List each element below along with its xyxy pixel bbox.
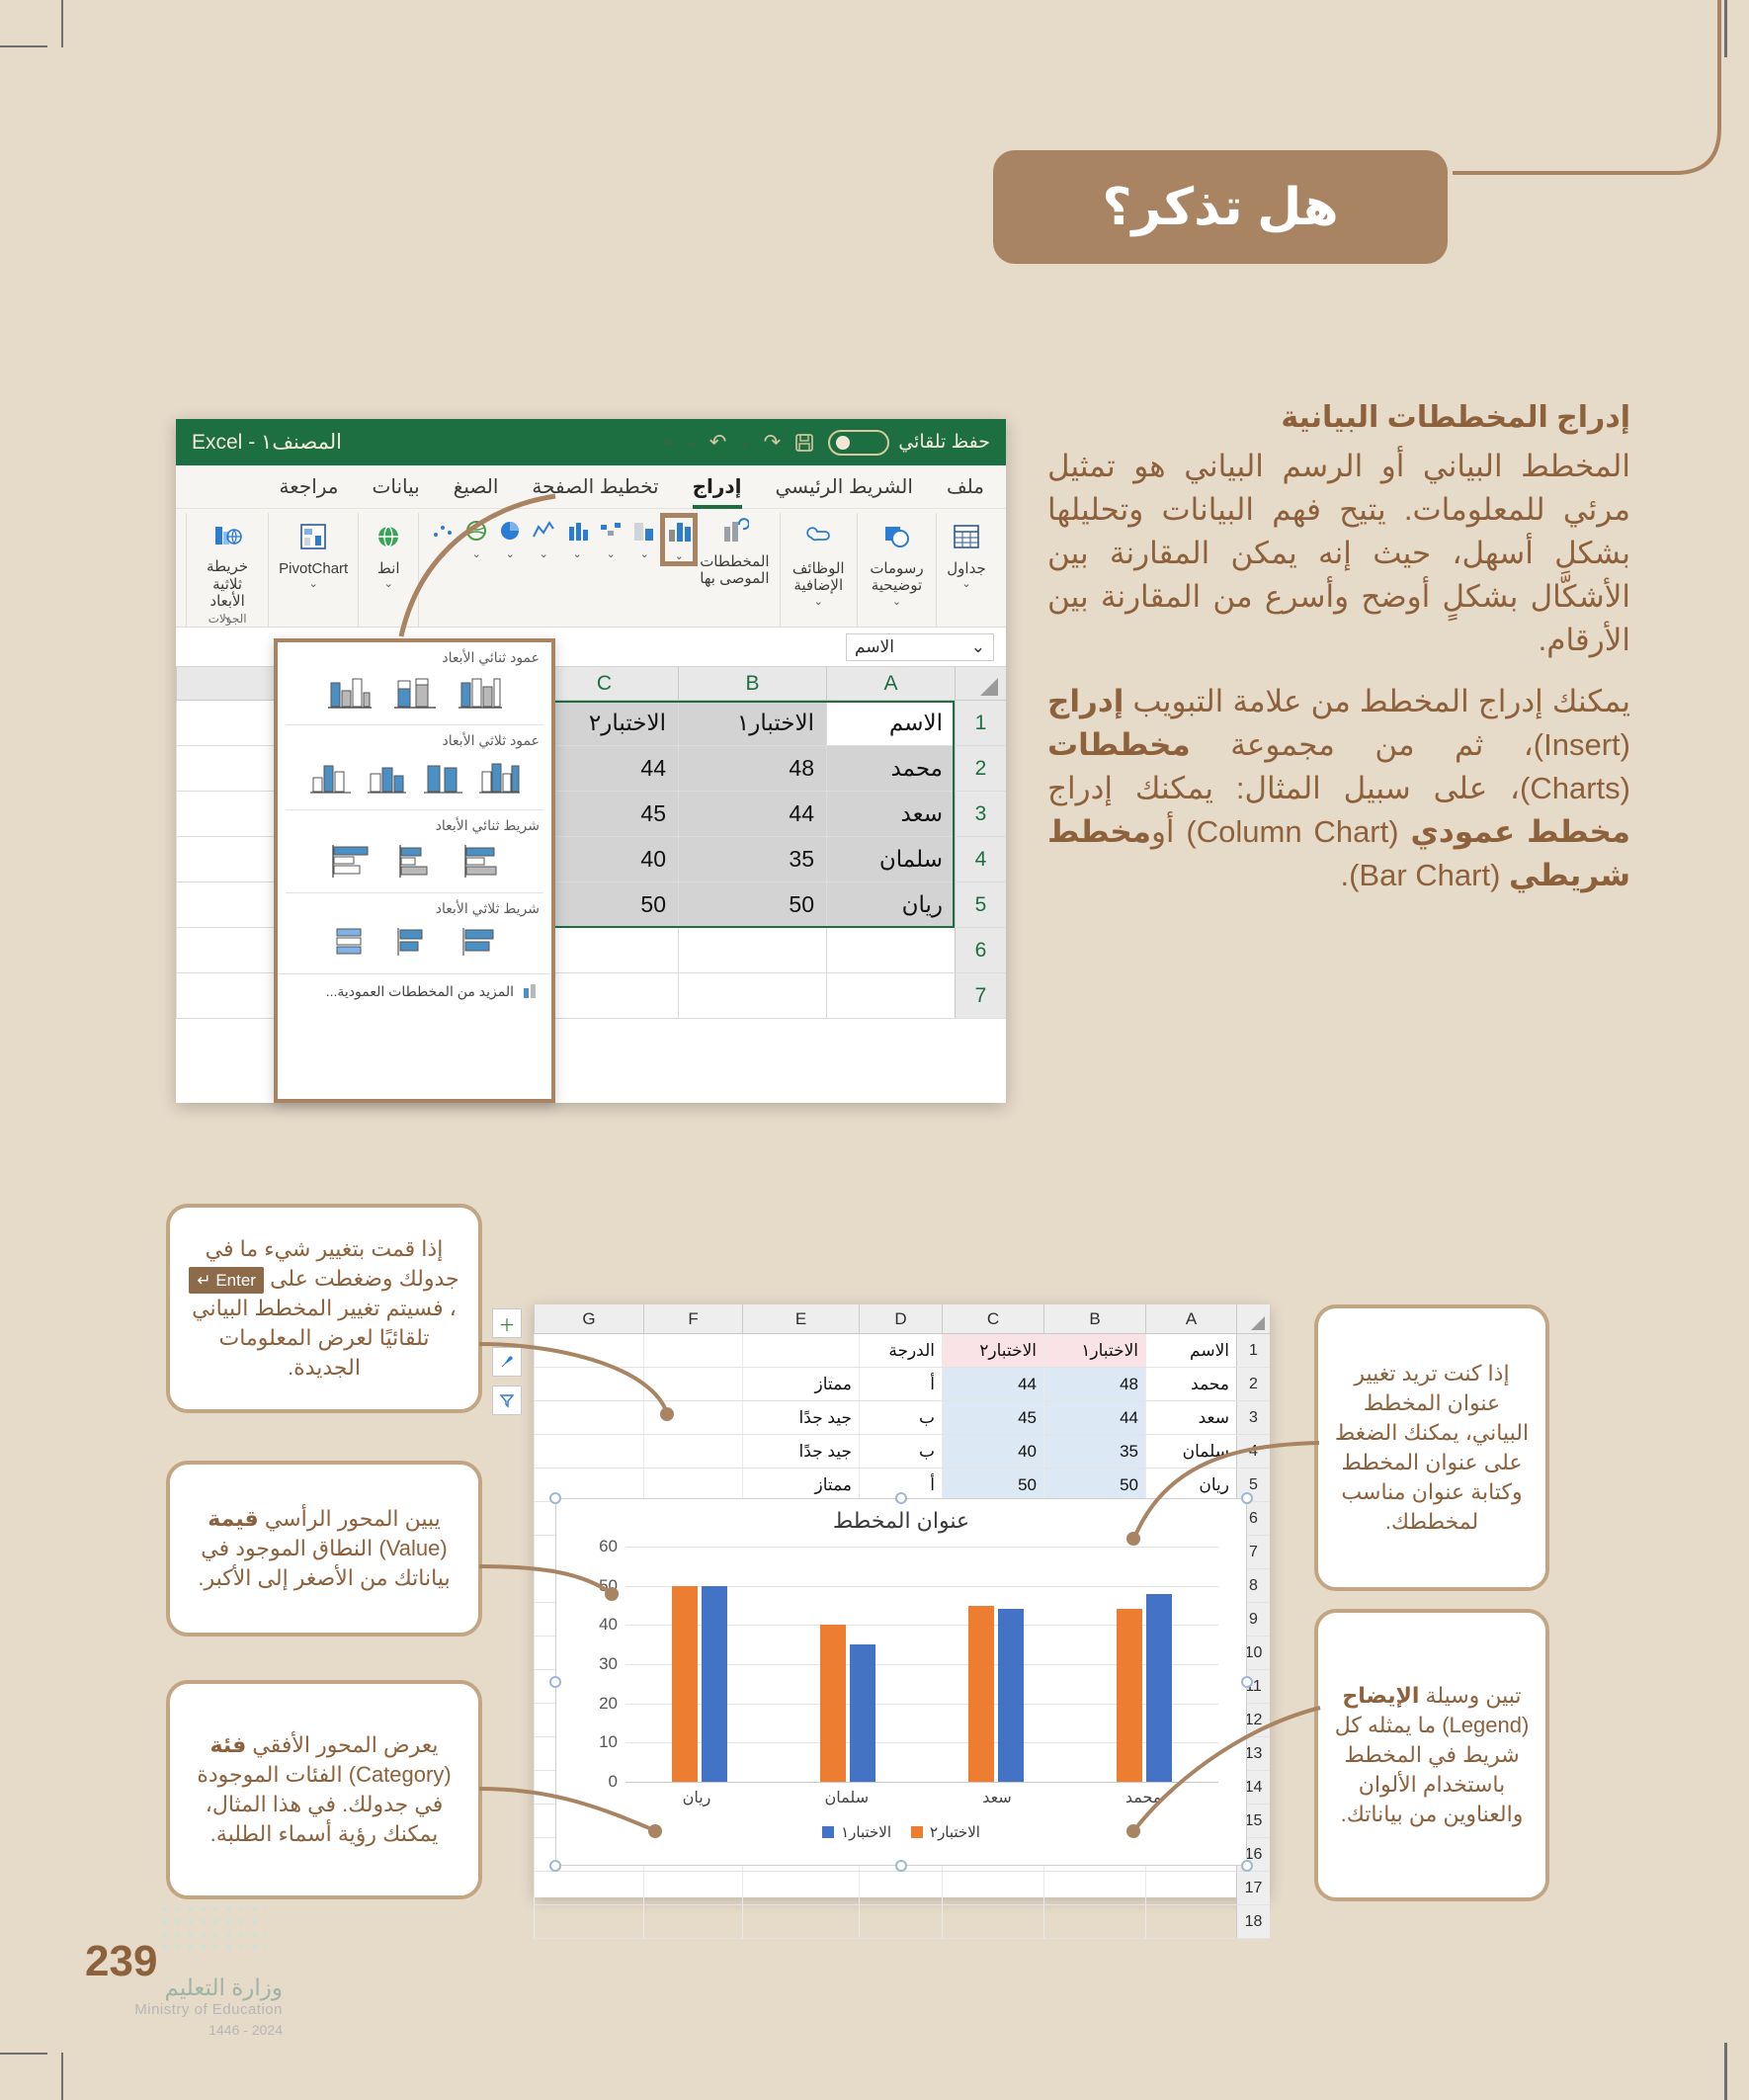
f2-cell-a4[interactable]: سلمان <box>1145 1435 1236 1468</box>
f2-cell-d1[interactable]: الدرجة <box>859 1334 942 1367</box>
tab-review[interactable]: مراجعة <box>279 474 338 499</box>
tab-home[interactable]: الشريط الرئيسي <box>776 474 913 499</box>
f2-column-header-d[interactable]: D <box>859 1304 942 1333</box>
map-chart-icon[interactable] <box>462 517 490 545</box>
p2-bold-insert: إدراج <box>1047 684 1124 718</box>
callout-category-axis: يعرض المحور الأفقي فئة (Category) الفئات… <box>166 1680 482 1899</box>
column-chart-dropdown[interactable]: عمود ثنائي الأبعاد عمود ثلاثي الأبعاد <box>274 638 555 1103</box>
p2-bold-charts: مخططات <box>1047 727 1191 762</box>
dropdown-heading-2d-column: عمود ثنائي الأبعاد <box>288 646 541 669</box>
chart-handle-ml[interactable] <box>549 1676 561 1688</box>
table-row[interactable]: 1الاسمالاختبار١الاختبار٢الدرجة <box>534 1334 1270 1368</box>
ribbon-label-3dmap: خريطة ثلاثية الأبعاد <box>197 558 258 610</box>
recommended-charts-icon[interactable] <box>719 517 749 546</box>
category-label-1: محمد <box>1125 1788 1162 1807</box>
header-bracket-line <box>1423 0 1749 227</box>
f2-row-header-2[interactable]: 2 <box>1236 1368 1270 1400</box>
row-header-5[interactable]: 5 <box>955 882 1006 927</box>
column-chart-button[interactable]: ⌄ <box>664 517 694 562</box>
bar-1-3[interactable] <box>850 1644 875 1782</box>
f2-column-header-e[interactable]: E <box>742 1304 859 1333</box>
f2-cell-e5[interactable]: ممتاز <box>742 1469 859 1501</box>
callout-category-axis-text: يعرض المحور الأفقي فئة (Category) الفئات… <box>186 1730 462 1849</box>
chevron-down-icon-line[interactable]: ⌄ <box>573 547 582 560</box>
f2-cell-a18[interactable] <box>1145 1905 1236 1938</box>
chart-option-clustered-column-icon[interactable] <box>456 673 505 714</box>
article-heading: إدراج المخططات البيانية <box>1047 400 1630 435</box>
callout-lb-part-a: يعرض المحور الأفقي <box>246 1732 438 1757</box>
pie-chart-button[interactable]: ⌄ <box>496 517 524 560</box>
chart-handle-tc[interactable] <box>895 1492 907 1504</box>
enter-key-badge: Enter ↵ <box>189 1267 264 1294</box>
f2-row-header-4[interactable]: 4 <box>1236 1435 1270 1468</box>
f2-cell-d3[interactable]: ب <box>859 1401 942 1434</box>
f2-cell-a5[interactable]: ريان <box>1145 1469 1236 1501</box>
more-commands-icon[interactable]: ⩦ <box>666 436 672 449</box>
bar-1-1[interactable] <box>1146 1594 1172 1782</box>
ribbon-group-tables[interactable]: جداول ⌄ <box>936 513 996 627</box>
f2-cell-d2[interactable]: أ <box>859 1368 942 1400</box>
ribbon-group-illustrations[interactable]: رسومات توضيحية ⌄ <box>857 513 936 627</box>
cell-b3[interactable]: 44 <box>678 792 826 836</box>
f2-cell-g3[interactable] <box>534 1401 643 1434</box>
chevron-down-icon-link[interactable]: ⌄ <box>384 577 393 590</box>
f2-cell-f5[interactable] <box>643 1469 742 1501</box>
f2-cell-f17[interactable] <box>643 1872 742 1904</box>
f2-cell-d17[interactable] <box>859 1872 942 1904</box>
chevron-down-icon-redo[interactable]: ⌄ <box>740 436 749 449</box>
row-header-7[interactable]: 7 <box>955 973 1006 1018</box>
ribbon-group-label-tours: الجولات <box>208 612 247 626</box>
f2-cell-c18[interactable] <box>942 1905 1043 1938</box>
cell-b5[interactable]: 50 <box>678 882 826 927</box>
y-tick-10: 10 <box>599 1732 618 1752</box>
callout-lb-part-c: (Category) الفئات الموجودة في جدولك. في … <box>197 1762 451 1846</box>
f2-cell-f2[interactable] <box>643 1368 742 1400</box>
column-header-a[interactable]: A <box>826 667 955 700</box>
f2-cell-b1[interactable]: الاختبار١ <box>1043 1334 1145 1367</box>
dropdown-section-3d-bar: شريط ثلاثي الأبعاد <box>278 893 551 973</box>
ribbon-label-recommended-charts: المخططات الموصى بها <box>700 553 769 588</box>
p2-part-a: يمكنك إدراج المخطط من علامة التبويب <box>1124 684 1630 718</box>
callout-legend-text: تبين وسيلة الإيضاح (Legend) ما يمثله كل … <box>1334 1681 1530 1829</box>
chart-bars <box>625 1547 1218 1782</box>
f2-cell-d4[interactable]: ب <box>859 1435 942 1468</box>
chart-handle-br[interactable] <box>1241 1860 1253 1872</box>
did-you-remember-badge: هل تذكر؟ <box>993 150 1448 264</box>
line-chart-icon[interactable] <box>563 517 591 545</box>
map-chart-button[interactable]: ⌄ <box>462 517 490 560</box>
ministry-name-ar: وزارة التعليم <box>85 1974 283 2001</box>
bar-2-4[interactable] <box>672 1586 698 1782</box>
callout-rb-bold: الإيضاح <box>1342 1683 1419 1708</box>
callout-auto-update-text: إذا قمت بتغيير شيء ما في جدولك وضغطت على… <box>186 1234 462 1383</box>
f2-column-header-c[interactable]: C <box>942 1304 1043 1333</box>
dropdown-items-3d-column[interactable] <box>288 752 541 807</box>
chart-option-3d-column-icon[interactable] <box>307 756 353 799</box>
hierarchy-chart-icon[interactable] <box>630 517 658 545</box>
tab-insert[interactable]: إدراج <box>693 474 742 499</box>
chevron-down-icon-column-chart[interactable]: ⌄ <box>675 549 684 562</box>
bar-group-4 <box>672 1586 727 1782</box>
ribbon-label-addins: الوظائف الإضافية <box>791 560 847 595</box>
charts-gallery[interactable]: المخططات الموصى بها ⌄ ⌄ <box>429 517 769 588</box>
f2-column-header-f[interactable]: F <box>643 1304 742 1333</box>
category-label-2: سعد <box>982 1788 1012 1807</box>
f2-cell-f1[interactable] <box>643 1334 742 1367</box>
select-all-corner[interactable] <box>955 667 1006 700</box>
chart-option-3d-clustered-column-icon[interactable] <box>476 756 522 799</box>
cell-b4[interactable]: 35 <box>678 837 826 882</box>
f2-cell-a1[interactable]: الاسم <box>1145 1334 1236 1367</box>
category-label-3: سلمان <box>825 1788 870 1807</box>
p2-part-c: (Insert)، ثم من مجموعة <box>1191 727 1630 762</box>
chart-title[interactable]: عنوان المخطط <box>556 1499 1246 1534</box>
callout-chart-title: إذا كنت تريد تغيير عنوان المخطط البياني،… <box>1314 1304 1549 1591</box>
f2-cell-c17[interactable] <box>942 1872 1043 1904</box>
f2-column-header-b[interactable]: B <box>1043 1304 1145 1333</box>
cell-a3[interactable]: سعد <box>826 792 955 836</box>
chart-handle-mr[interactable] <box>1241 1676 1253 1688</box>
y-tick-20: 20 <box>599 1694 618 1714</box>
worksheet-with-chart[interactable]: A B C D E F G 1الاسمالاختبار١الاختبار٢ال… <box>534 1304 1270 1897</box>
autosave-toggle[interactable] <box>828 430 889 456</box>
f2-cell-c5[interactable]: 50 <box>942 1469 1043 1501</box>
sparkline-icon[interactable] <box>429 517 457 545</box>
f2-cell-g17[interactable] <box>534 1872 643 1904</box>
callout-value-axis-text: يبين المحور الرأسي قيمة (Value) النطاق ا… <box>186 1504 462 1593</box>
dropdown-section-3d-column: عمود ثلاثي الأبعاد <box>278 725 551 809</box>
cell-b6[interactable] <box>678 928 826 972</box>
ribbon-group-3dmap[interactable]: خريطة ثلاثية الأبعاد ⌄ الجولات <box>186 513 268 627</box>
chart-filters-funnel-icon[interactable] <box>492 1386 522 1415</box>
ribbon-group-pivotchart[interactable]: PivotChart ⌄ <box>268 513 358 627</box>
callout-lb-bold: فئة <box>210 1732 247 1757</box>
chart-option-stacked-bar-icon[interactable] <box>390 841 440 882</box>
dropdown-heading-3d-bar: شريط ثلاثي الأبعاد <box>288 897 541 920</box>
callout-lm-bold: قيمة <box>208 1506 258 1531</box>
f2-cell-c4[interactable]: 40 <box>942 1435 1043 1468</box>
ribbon-group-addins[interactable]: الوظائف الإضافية ⌄ <box>780 513 857 627</box>
bar-group-2 <box>968 1606 1024 1783</box>
crop-mark-top-left-h <box>0 45 47 47</box>
chevron-down-icon-hierarchy[interactable]: ⌄ <box>640 547 649 560</box>
autosave-control[interactable]: حفظ تلقائي <box>828 430 990 456</box>
f2-cell-b5[interactable]: 50 <box>1043 1469 1145 1501</box>
f2-cell-b17[interactable] <box>1043 1872 1145 1904</box>
chart-option-stacked-column-icon[interactable] <box>390 673 440 714</box>
f2-cell-b18[interactable] <box>1043 1905 1145 1938</box>
save-icon[interactable] <box>794 433 814 453</box>
ribbon-label-illustrations: رسومات توضيحية <box>868 560 926 595</box>
p2-part-e: (Charts)، على سبيل المثال: يمكنك إدراج <box>1047 771 1630 805</box>
f2-row-header-18[interactable]: 18 <box>1236 1905 1270 1938</box>
link-icon[interactable] <box>369 517 408 556</box>
cell-b2[interactable]: 48 <box>678 746 826 791</box>
article-text: إدراج المخططات البيانية المخطط البياني أ… <box>1047 400 1630 915</box>
f2-column-header-a[interactable]: A <box>1145 1304 1236 1333</box>
tab-file[interactable]: ملف <box>947 474 984 499</box>
bar-1-2[interactable] <box>998 1609 1024 1782</box>
ribbon-label-pivotchart: PivotChart <box>279 560 348 577</box>
legend-item-1[interactable]: الاختبار١ <box>822 1823 891 1841</box>
legend-swatch-2 <box>911 1826 923 1838</box>
article-paragraph-1: المخطط البياني أو الرسم البياني هو تمثيل… <box>1047 445 1630 662</box>
pivotchart-icon[interactable] <box>293 517 333 556</box>
ministry-year: 2024 - 1446 <box>85 2022 283 2038</box>
ministry-name-en: Ministry of Education <box>85 2001 283 2018</box>
f2-cell-e17[interactable] <box>742 1872 859 1904</box>
cell-a6[interactable] <box>826 928 955 972</box>
category-label-4: ريان <box>683 1788 711 1807</box>
bar-group-3 <box>820 1625 875 1782</box>
more-charts-icon <box>522 982 541 1000</box>
cell-b7[interactable] <box>678 973 826 1018</box>
redo-icon[interactable]: ↷ <box>764 430 782 455</box>
f2-column-header-g[interactable]: G <box>534 1304 643 1333</box>
bar-2-2[interactable] <box>968 1606 994 1783</box>
f2-cell-g1[interactable] <box>534 1334 643 1367</box>
document-title: المصنف١ - Excel <box>192 430 342 455</box>
table-row[interactable]: 3سعد4445بجيد جدًا <box>534 1401 1270 1435</box>
chart-elements-plus-icon[interactable]: ＋ <box>492 1308 522 1338</box>
quick-access-toolbar[interactable]: ↷ ⌄ ↶ ⌄ ⩦ <box>666 430 814 455</box>
row-header-6[interactable]: 6 <box>955 928 1006 972</box>
legend-item-2[interactable]: الاختبار٢ <box>911 1823 980 1841</box>
line-chart-button[interactable]: ⌄ <box>563 517 591 560</box>
cell-a1[interactable]: الاسم <box>826 701 955 745</box>
chart-object[interactable]: عنوان المخطط 60 50 40 30 20 10 0 محمدسعد… <box>555 1498 1247 1866</box>
f2-cell-d18[interactable] <box>859 1905 942 1938</box>
chart-handle-tr[interactable] <box>1241 1492 1253 1504</box>
chart-option-100-stacked-column-icon[interactable] <box>325 673 375 714</box>
decorative-dots <box>158 1902 267 1950</box>
chevron-down-icon-pie[interactable]: ⌄ <box>506 547 515 560</box>
chart-styles-brush-icon[interactable] <box>492 1347 522 1377</box>
f2-cell-e1[interactable] <box>742 1334 859 1367</box>
y-tick-60: 60 <box>599 1537 618 1556</box>
f2-row-header-1[interactable]: 1 <box>1236 1334 1270 1367</box>
ribbon-label-tables: جداول <box>947 560 985 577</box>
table-row[interactable]: 17 <box>534 1872 1270 1905</box>
crop-mark-top-right <box>1724 0 1727 57</box>
dropdown-items-3d-bar[interactable] <box>288 920 541 971</box>
chart-handle-tl[interactable] <box>549 1492 561 1504</box>
f2-cell-e2[interactable]: ممتاز <box>742 1368 859 1400</box>
autosave-label: حفظ تلقائي <box>898 431 990 454</box>
f2-cell-g18[interactable] <box>534 1905 643 1938</box>
tab-data[interactable]: بيانات <box>373 474 420 499</box>
callout-rb-part-a: تبين وسيلة <box>1419 1683 1521 1708</box>
chevron-down-icon-sparkline[interactable]: ⌄ <box>439 547 448 560</box>
chart-side-tools[interactable]: ＋ <box>492 1308 522 1415</box>
sparkline-button[interactable]: ⌄ <box>429 517 457 560</box>
crop-mark-bottom-right <box>1724 2043 1727 2100</box>
chart-option-100-stacked-bar-icon[interactable] <box>325 841 375 882</box>
cell-b1[interactable]: الاختبار١ <box>678 701 826 745</box>
cell-a5[interactable]: ريان <box>826 882 955 927</box>
crop-mark-bottom-left-v <box>61 2053 63 2100</box>
legend-label-2: الاختبار٢ <box>930 1823 980 1841</box>
chart-plot-area: 60 50 40 30 20 10 0 <box>625 1547 1218 1782</box>
chevron-down-icon-addins[interactable]: ⌄ <box>814 595 823 608</box>
chart-option-3d-100-stacked-column-icon[interactable] <box>364 756 409 799</box>
p2-part-g: (Column Chart) أو <box>1151 814 1411 849</box>
row-header-3[interactable]: 3 <box>955 792 1006 836</box>
dropdown-items-2d-column[interactable] <box>288 669 541 722</box>
bar-1-4[interactable] <box>702 1586 727 1782</box>
more-column-charts-label: المزيد من المخططات العمودية... <box>326 983 514 1000</box>
excel-window[interactable]: حفظ تلقائي ↷ ⌄ ↶ ⌄ ⩦ المصنف١ - Excel ملف… <box>176 419 1006 1103</box>
addins-icon[interactable] <box>798 517 838 556</box>
callout-auto-update: إذا قمت بتغيير شيء ما في جدولك وضغطت على… <box>166 1204 482 1413</box>
dropdown-heading-3d-column: عمود ثلاثي الأبعاد <box>288 729 541 752</box>
tab-page-layout[interactable]: تخطيط الصفحة <box>532 474 658 499</box>
chart-handle-bl[interactable] <box>549 1860 561 1872</box>
pie-chart-icon[interactable] <box>496 517 524 545</box>
column-header-b[interactable]: B <box>678 667 826 700</box>
f2-cell-e3[interactable]: جيد جدًا <box>742 1401 859 1434</box>
table-icon[interactable] <box>947 517 986 556</box>
ribbon-group-link[interactable]: انط ⌄ <box>358 513 418 627</box>
chevron-down-icon-illustrations[interactable]: ⌄ <box>892 595 901 608</box>
y-tick-50: 50 <box>599 1576 618 1596</box>
chevron-down-icon-statistic[interactable]: ⌄ <box>540 547 548 560</box>
chart-legend[interactable]: الاختبار٢الاختبار١ <box>556 1823 1246 1841</box>
chart-option-clustered-bar-icon[interactable] <box>456 841 505 882</box>
ribbon-group-charts[interactable]: المخططات الموصى بها ⌄ ⌄ <box>418 513 779 627</box>
chevron-down-icon-pivotchart[interactable]: ⌄ <box>309 577 318 590</box>
statistic-chart-icon[interactable] <box>530 517 557 545</box>
tab-formulas[interactable]: الصيغ <box>454 474 499 499</box>
f2-cell-f3[interactable] <box>643 1401 742 1434</box>
callout-legend: تبين وسيلة الإيضاح (Legend) ما يمثله كل … <box>1314 1609 1549 1901</box>
callout-value-axis: يبين المحور الرأسي قيمة (Value) النطاق ا… <box>166 1461 482 1637</box>
callout-lt-part-b: ، فسيتم تغيير المخطط البياني تلقائيًا لع… <box>192 1296 457 1380</box>
crop-mark-top-left-v <box>61 0 63 47</box>
f2-select-all-corner[interactable] <box>1236 1304 1270 1333</box>
f2-column-headers: A B C D E F G <box>534 1304 1270 1334</box>
ribbon-content[interactable]: جداول ⌄ رسومات توضيحية ⌄ الوظائف الإضافي… <box>176 509 1006 628</box>
chart-option-3d-stacked-column-icon[interactable] <box>420 756 465 799</box>
f2-cell-e18[interactable] <box>742 1905 859 1938</box>
bar-group-1 <box>1117 1594 1172 1782</box>
f2-cell-b4[interactable]: 35 <box>1043 1435 1145 1468</box>
table-row[interactable]: 4سلمان3540بجيد جدًا <box>534 1435 1270 1469</box>
scatter-chart-button[interactable]: ⌄ <box>597 517 625 560</box>
f2-cell-a3[interactable]: سعد <box>1145 1401 1236 1434</box>
table-row[interactable]: 2محمد4844أممتاز <box>534 1368 1270 1401</box>
chart-category-labels: محمدسعدسلمانريان <box>625 1788 1218 1807</box>
chart-handle-bc[interactable] <box>895 1860 907 1872</box>
hierarchy-chart-button[interactable]: ⌄ <box>630 517 658 560</box>
f2-row-header-17[interactable]: 17 <box>1236 1872 1270 1904</box>
f2-row-header-3[interactable]: 3 <box>1236 1401 1270 1434</box>
f2-cell-f4[interactable] <box>643 1435 742 1468</box>
chart-option-3d-clustered-bar-icon[interactable] <box>456 924 505 964</box>
3d-map-icon[interactable] <box>208 517 247 554</box>
y-tick-40: 40 <box>599 1615 618 1635</box>
cell-a4[interactable]: سلمان <box>826 837 955 882</box>
f2-cell-g2[interactable] <box>534 1368 643 1400</box>
f2-cell-b3[interactable]: 44 <box>1043 1401 1145 1434</box>
f2-cell-f18[interactable] <box>643 1905 742 1938</box>
dropdown-section-2d-column: عمود ثنائي الأبعاد <box>278 642 551 724</box>
y-tick-0: 0 <box>609 1772 618 1792</box>
chevron-down-icon-waterfall[interactable]: ⌄ <box>607 547 616 560</box>
dropdown-items-2d-bar[interactable] <box>288 837 541 890</box>
cell-a7[interactable] <box>826 973 955 1018</box>
crop-mark-bottom-left-h <box>0 2053 47 2055</box>
ribbon-label-link: انط <box>377 560 400 577</box>
legend-label-1: الاختبار١ <box>841 1823 891 1841</box>
name-box-value: الاسم <box>855 637 894 657</box>
chart-option-3d-stacked-bar-icon[interactable] <box>390 924 440 964</box>
f2-cell-c3[interactable]: 45 <box>942 1401 1043 1434</box>
ministry-logo: وزارة التعليم Ministry of Education 2024… <box>85 1974 283 2038</box>
legend-swatch-1 <box>822 1826 834 1838</box>
f2-cell-c1[interactable]: الاختبار٢ <box>942 1334 1043 1367</box>
waterfall-chart-icon[interactable] <box>597 517 625 545</box>
chevron-down-icon-tables[interactable]: ⌄ <box>961 577 970 590</box>
dropdown-heading-2d-bar: شريط ثنائي الأبعاد <box>288 814 541 837</box>
statistic-chart-button[interactable]: ⌄ <box>530 517 557 560</box>
excel-title-bar: حفظ تلقائي ↷ ⌄ ↶ ⌄ ⩦ المصنف١ - Excel <box>176 419 1006 465</box>
callout-chart-title-text: إذا كنت تريد تغيير عنوان المخطط البياني،… <box>1334 1359 1530 1536</box>
illustrations-icon[interactable] <box>876 517 916 556</box>
callout-lm-part-a: يبين المحور الرأسي <box>259 1506 441 1531</box>
f2-cell-b2[interactable]: 48 <box>1043 1368 1145 1400</box>
column-chart-icon[interactable] <box>664 517 694 546</box>
row-header-4[interactable]: 4 <box>955 837 1006 882</box>
chart-option-3d-bar-icon[interactable] <box>325 924 375 964</box>
undo-icon[interactable]: ↶ <box>709 430 727 455</box>
ribbon-tabs[interactable]: ملف الشريط الرئيسي إدراج تخطيط الصفحة ال… <box>176 465 1006 509</box>
f2-cell-c2[interactable]: 44 <box>942 1368 1043 1400</box>
f2-cell-a2[interactable]: محمد <box>1145 1368 1236 1400</box>
p2-bold-column-chart: مخطط عمودي <box>1410 814 1630 849</box>
f2-cell-e4[interactable]: جيد جدًا <box>742 1435 859 1468</box>
f2-cell-g4[interactable] <box>534 1435 643 1468</box>
dropdown-section-2d-bar: شريط ثنائي الأبعاد <box>278 810 551 892</box>
name-box[interactable]: ⌄ الاسم <box>846 633 994 661</box>
row-header-1[interactable]: 1 <box>955 701 1006 745</box>
callout-rb-part-c: (Legend) ما يمثله كل شريط في المخطط باست… <box>1335 1713 1530 1826</box>
name-box-caret[interactable]: ⌄ <box>971 637 985 657</box>
bar-2-3[interactable] <box>820 1625 846 1782</box>
chevron-down-icon-map[interactable]: ⌄ <box>472 547 481 560</box>
y-tick-30: 30 <box>599 1654 618 1674</box>
f2-cell-a17[interactable] <box>1145 1872 1236 1904</box>
badge-label: هل تذكر؟ <box>1102 178 1338 237</box>
bar-2-1[interactable] <box>1117 1609 1142 1782</box>
chevron-down-icon-undo[interactable]: ⌄ <box>687 436 696 449</box>
page-root: هل تذكر؟ إدراج المخططات البيانية المخطط … <box>0 0 1749 2100</box>
callout-lm-part-c: (Value) النطاق الموجود في بياناتك من الأ… <box>198 1536 450 1590</box>
more-column-charts-item[interactable]: المزيد من المخططات العمودية... <box>278 973 551 1008</box>
recommended-charts-col[interactable]: المخططات الموصى بها <box>700 517 769 588</box>
p2-part-i: (Bar Chart). <box>1340 858 1509 892</box>
article-paragraph-2: يمكنك إدراج المخطط من علامة التبويب إدرا… <box>1047 680 1630 897</box>
row-header-2[interactable]: 2 <box>955 746 1006 791</box>
table-row[interactable]: 18 <box>534 1905 1270 1939</box>
cell-a2[interactable]: محمد <box>826 746 955 791</box>
